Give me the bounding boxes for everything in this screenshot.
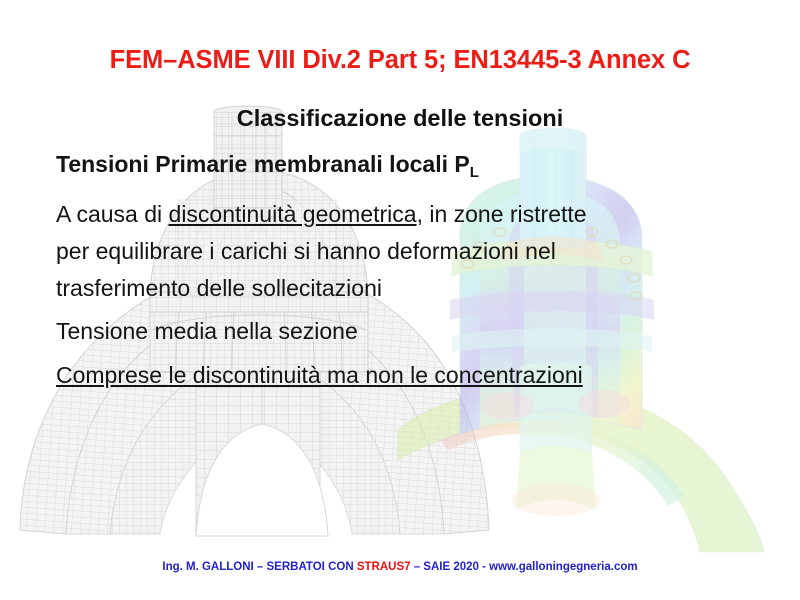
- body-line-4: Tensione media nella sezione: [56, 320, 358, 343]
- footer-part-1: Ing. M. GALLONI – SERBATOI CON: [162, 561, 356, 573]
- body-line-3: trasferimento delle sollecitazioni: [56, 277, 382, 300]
- heading-primary-local-membrane: Tensioni Primarie membranali locali PL: [56, 153, 479, 176]
- body-line-1: A causa di discontinuità geometrica, in …: [56, 203, 587, 226]
- body-line-1-suffix: , in zone ristrette: [417, 201, 587, 227]
- presentation-slide: FEM–ASME VIII Div.2 Part 5; EN13445-3 An…: [0, 0, 800, 600]
- body-line-5: Comprese le discontinuità ma non le conc…: [56, 364, 583, 387]
- slide-subtitle: Classificazione delle tensioni: [0, 105, 800, 132]
- heading-pl-subscript: L: [470, 164, 479, 181]
- slide-footer: Ing. M. GALLONI – SERBATOI CON STRAUS7 –…: [0, 561, 800, 573]
- body-line-2: per equilibrare i carichi si hanno defor…: [56, 240, 556, 263]
- page-title: FEM–ASME VIII Div.2 Part 5; EN13445-3 An…: [0, 46, 800, 75]
- footer-part-2: – SAIE 2020 - www.galloningegneria.com: [411, 561, 638, 573]
- body-line-1-underlined: discontinuità geometrica: [169, 201, 417, 227]
- heading-pl-text: Tensioni Primarie membranali locali P: [56, 151, 470, 177]
- footer-accent: STRAUS7: [357, 561, 411, 573]
- body-line-1-prefix: A causa di: [56, 201, 169, 227]
